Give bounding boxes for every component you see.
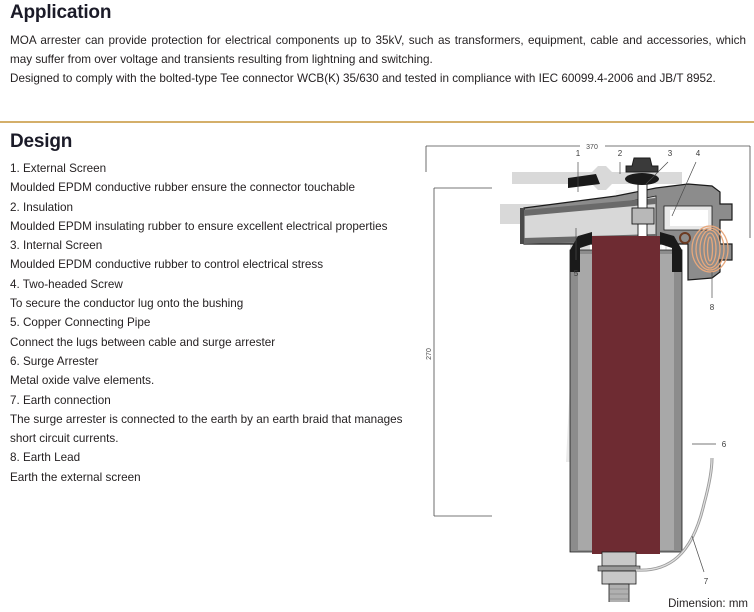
- list-item: 1. External Screen Moulded EPDM conducti…: [10, 159, 428, 198]
- design-item-description: To secure the conductor lug onto the bus…: [10, 294, 428, 313]
- surge-arrester-assembly: [570, 232, 712, 602]
- earth-terminal-nut-upper: [602, 552, 636, 566]
- callout-label-8: 8: [710, 303, 715, 312]
- datasheet-page: Application MOA arrester can provide pro…: [0, 0, 754, 612]
- callout-label-5: 5: [574, 269, 579, 278]
- bolt-cavity-inner: [670, 210, 708, 226]
- design-item-description: Connect the lugs between cable and surge…: [10, 333, 428, 352]
- screw-nut: [632, 208, 654, 224]
- design-item-title: 3. Internal Screen: [10, 236, 428, 255]
- design-item-description: Moulded EPDM conductive rubber to contro…: [10, 255, 428, 274]
- cross-section-diagram: 370 270: [420, 132, 754, 602]
- list-item: 3. Internal Screen Moulded EPDM conducti…: [10, 236, 428, 275]
- callout-label-3: 3: [668, 149, 673, 158]
- list-item: 8. Earth Lead Earth the external screen: [10, 448, 428, 487]
- callout-label-4: 4: [696, 149, 701, 158]
- dimension-width-label: 370: [586, 144, 598, 151]
- design-item-title: 8. Earth Lead: [10, 448, 428, 467]
- list-item: 7. Earth connection The surge arrester i…: [10, 391, 428, 449]
- list-item: 4. Two-headed Screw To secure the conduc…: [10, 275, 428, 314]
- list-item: 2. Insulation Moulded EPDM insulating ru…: [10, 198, 428, 237]
- callout-label-1: 1: [576, 149, 581, 158]
- section-divider: [0, 121, 754, 123]
- design-item-title: 4. Two-headed Screw: [10, 275, 428, 294]
- application-paragraph-2: Designed to comply with the bolted-type …: [10, 69, 746, 88]
- screw-cap: [625, 173, 659, 185]
- callout-label-6: 6: [722, 440, 727, 449]
- dimension-height-label: 270: [426, 348, 433, 360]
- application-paragraph-1: MOA arrester can provide protection for …: [10, 31, 746, 69]
- callout-label-7: 7: [704, 577, 709, 586]
- application-body: MOA arrester can provide protection for …: [8, 31, 746, 88]
- list-item: 6. Surge Arrester Metal oxide valve elem…: [10, 352, 428, 391]
- callout-label-2: 2: [618, 149, 623, 158]
- application-heading: Application: [8, 2, 746, 24]
- design-item-description: The surge arrester is connected to the e…: [10, 410, 428, 449]
- design-item-description: Metal oxide valve elements.: [10, 371, 428, 390]
- design-section: Design 1. External Screen Moulded EPDM c…: [8, 131, 428, 487]
- design-heading: Design: [8, 131, 428, 153]
- design-item-description: Earth the external screen: [10, 468, 428, 487]
- design-item-title: 6. Surge Arrester: [10, 352, 428, 371]
- design-item-title: 2. Insulation: [10, 198, 428, 217]
- earth-terminal-washer: [598, 566, 640, 571]
- divider-rule: [0, 121, 754, 123]
- metal-oxide-valve-elements: [592, 236, 660, 554]
- design-item-title: 5. Copper Connecting Pipe: [10, 313, 428, 332]
- design-item-description: Moulded EPDM conductive rubber ensure th…: [10, 178, 428, 197]
- list-item: 5. Copper Connecting Pipe Connect the lu…: [10, 313, 428, 352]
- screw-head: [626, 158, 658, 172]
- design-item-title: 7. Earth connection: [10, 391, 428, 410]
- design-list: 1. External Screen Moulded EPDM conducti…: [8, 159, 428, 487]
- application-section: Application MOA arrester can provide pro…: [8, 2, 746, 88]
- design-item-description: Moulded EPDM insulating rubber to ensure…: [10, 217, 428, 236]
- design-item-title: 1. External Screen: [10, 159, 428, 178]
- interface-flange: [520, 208, 524, 244]
- earth-terminal-nut-lower: [602, 571, 636, 584]
- dimension-unit-note: Dimension: mm: [668, 598, 748, 610]
- technical-drawing: 370 270: [420, 132, 754, 612]
